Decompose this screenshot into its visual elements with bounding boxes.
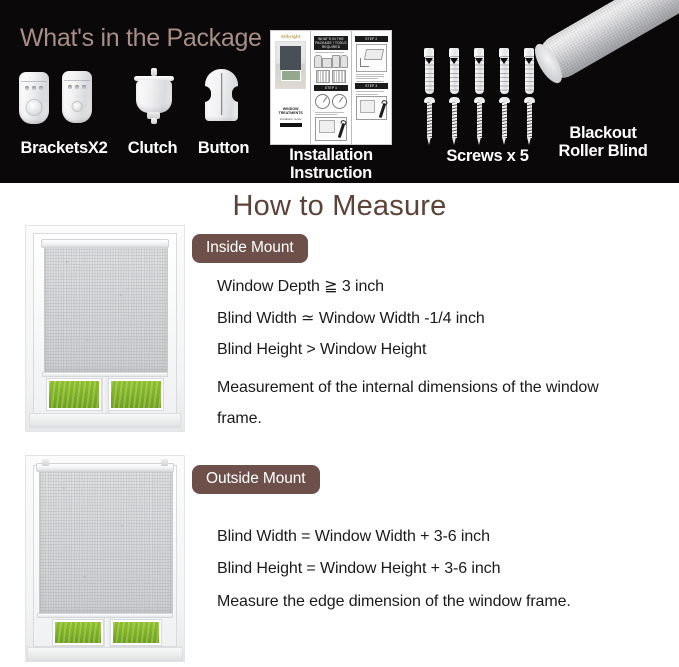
leaflet-rule	[356, 76, 384, 77]
leaflet-panel-steps: STEP 2 STEP 3	[352, 31, 391, 144]
package-contents-banner: What's in the Package BracketsX2	[0, 0, 679, 183]
inside-mount-line-3: Blind Height > Window Height	[217, 341, 426, 359]
outside-mount-line-2: Blind Height = Window Height + 3-6 inch	[217, 560, 500, 578]
measure-circle-icon	[315, 94, 330, 109]
screw-tip	[477, 137, 481, 145]
leaflet-rule	[315, 52, 343, 53]
anchor-notch	[475, 58, 483, 64]
leaflet-rule	[356, 94, 378, 95]
screw-thread	[527, 102, 532, 138]
screw-icon	[474, 97, 485, 145]
fabric-swatch-icon	[316, 70, 330, 83]
screw-hole	[39, 86, 43, 90]
leaflet-panel2-header: WHAT'S IN THE PACKAGE / TOOLS REQUIRED	[314, 36, 347, 50]
leaflet-panel2-step: STEP 1	[314, 85, 347, 91]
fabric-swatch-icon	[332, 70, 346, 83]
button-slit	[221, 73, 223, 115]
tool-icon	[322, 58, 332, 68]
blind-hem-bar	[37, 613, 173, 618]
leaflet-tool-row	[314, 55, 347, 68]
clutch-body	[136, 80, 172, 113]
screw-icon	[499, 97, 510, 145]
instruction-leaflet-icon: Allbright WINDOW TREATMENTS Installation…	[270, 30, 392, 145]
screw-thread	[477, 102, 482, 138]
blind-headrail	[41, 239, 169, 248]
blind-label: Blackout Roller Blind	[538, 124, 668, 161]
leaflet-panel-parts: WHAT'S IN THE PACKAGE / TOOLS REQUIRED S…	[311, 31, 351, 144]
window-mullion	[102, 377, 109, 413]
leaflet-rule	[356, 91, 384, 92]
blind-headrail	[36, 463, 174, 472]
anchor-notch	[425, 58, 433, 64]
button-waist-right	[232, 86, 239, 102]
outside-mount-window-illustration	[25, 455, 185, 662]
blind-label-line2: Roller Blind	[559, 142, 648, 160]
inside-mount-line-2: Blind Width ≃ Window Width -1/4 inch	[217, 308, 485, 328]
wrench-icon	[338, 123, 345, 138]
window-glass-right	[111, 620, 161, 645]
leaflet-cover-badge	[280, 123, 302, 127]
instruction-label: Installation Instruction	[268, 146, 394, 183]
leaflet-rule	[315, 112, 343, 113]
leaflet-rule	[315, 114, 337, 115]
wall-anchor-icon	[473, 48, 485, 94]
screw-thread	[502, 102, 507, 138]
brackets-label: BracketsX2	[14, 140, 114, 158]
leaflet-cover-subcaption: Installation Guide	[273, 117, 308, 121]
bracket-disc	[73, 102, 82, 111]
bracket-disc	[27, 100, 42, 115]
bracket-icon-right	[62, 71, 92, 123]
screw-hole	[82, 85, 86, 89]
leaflet-panel-cover: Allbright WINDOW TREATMENTS Installation…	[271, 31, 311, 144]
tool-icon	[340, 55, 348, 68]
inside-mount-badge: Inside Mount	[192, 234, 308, 263]
screw-hole	[25, 86, 29, 90]
leaflet-tool-box	[356, 96, 387, 120]
leaflet-brand: Allbright	[273, 34, 308, 39]
clutch-pin	[151, 68, 157, 76]
product-infographic: What's in the Package BracketsX2	[0, 0, 679, 667]
leaflet-panel3-step2: STEP 3	[355, 83, 388, 89]
window-glass-right	[109, 379, 163, 410]
window-sill	[27, 647, 183, 661]
screw-icon	[449, 97, 460, 145]
screw-tip	[452, 137, 456, 145]
inside-mount-line-4: Measurement of the internal dimensions o…	[217, 372, 647, 434]
window-glass-left	[53, 620, 103, 645]
clutch-spindle	[151, 118, 157, 124]
instruction-label-line2: Instruction	[290, 164, 372, 182]
outside-mount-line-1: Blind Width = Window Width + 3-6 inch	[217, 528, 490, 546]
screw-tip	[502, 137, 506, 145]
leaflet-rule	[356, 81, 384, 82]
window-glass-left	[47, 379, 101, 410]
page-title: How to Measure	[0, 190, 679, 223]
inside-mount-window-illustration	[25, 225, 185, 432]
blind-label-line1: Blackout	[569, 124, 636, 142]
anchor-notch	[450, 58, 458, 64]
screw-thread	[452, 102, 457, 138]
button-icon	[205, 69, 238, 121]
tool-icon	[314, 55, 322, 68]
button-label: Button	[186, 140, 261, 158]
instruction-label-line1: Installation	[289, 146, 373, 164]
screw-tip	[527, 137, 531, 145]
blind-fabric	[44, 247, 168, 373]
screw-tip	[427, 137, 431, 145]
leaflet-cover-caption-line2: TREATMENTS	[273, 111, 308, 115]
wall-anchor-icon	[523, 48, 535, 94]
window-mullion	[104, 618, 111, 648]
inside-mount-line-1: Window Depth ≧ 3 inch	[217, 276, 384, 296]
wall-anchor-icon	[423, 48, 435, 94]
measure-circle-icon	[332, 94, 347, 109]
leaflet-cover-photo	[275, 41, 306, 89]
blind-fabric	[39, 471, 173, 614]
screw-hole	[75, 85, 79, 89]
leaflet-rule	[356, 74, 384, 75]
clutch-label: Clutch	[115, 140, 190, 158]
button-waist-left	[204, 86, 211, 102]
leaflet-panel3-step1: STEP 2	[355, 36, 388, 42]
wrench-icon	[378, 103, 385, 118]
leaflet-tool-box	[315, 117, 346, 141]
leaflet-diagram-circles	[314, 94, 347, 109]
wall-anchor-icon	[498, 48, 510, 94]
wall-anchor-icon	[448, 48, 460, 94]
banner-title: What's in the Package	[20, 24, 262, 53]
outside-mount-badge: Outside Mount	[192, 465, 320, 494]
mount-bracket-left	[42, 459, 49, 466]
leaflet-step-illustration	[356, 44, 387, 72]
tool-icon	[332, 55, 340, 68]
screw-hole	[32, 86, 36, 90]
bracket-icon-left	[19, 72, 49, 124]
window-sill	[29, 413, 181, 428]
blind-hem-bar	[42, 372, 168, 377]
screw-hole	[68, 85, 72, 89]
leaflet-rule	[356, 78, 378, 79]
outside-mount-line-3: Measure the edge dimension of the window…	[217, 593, 571, 611]
anchor-notch	[500, 58, 508, 64]
screw-icon	[424, 97, 435, 145]
screw-thread	[427, 102, 432, 138]
anchor-notch	[525, 58, 533, 64]
screw-icon	[524, 97, 535, 145]
leaflet-grid-row	[314, 70, 347, 83]
mount-bracket-right	[161, 459, 168, 466]
rolled-blind-icon	[541, 0, 679, 114]
